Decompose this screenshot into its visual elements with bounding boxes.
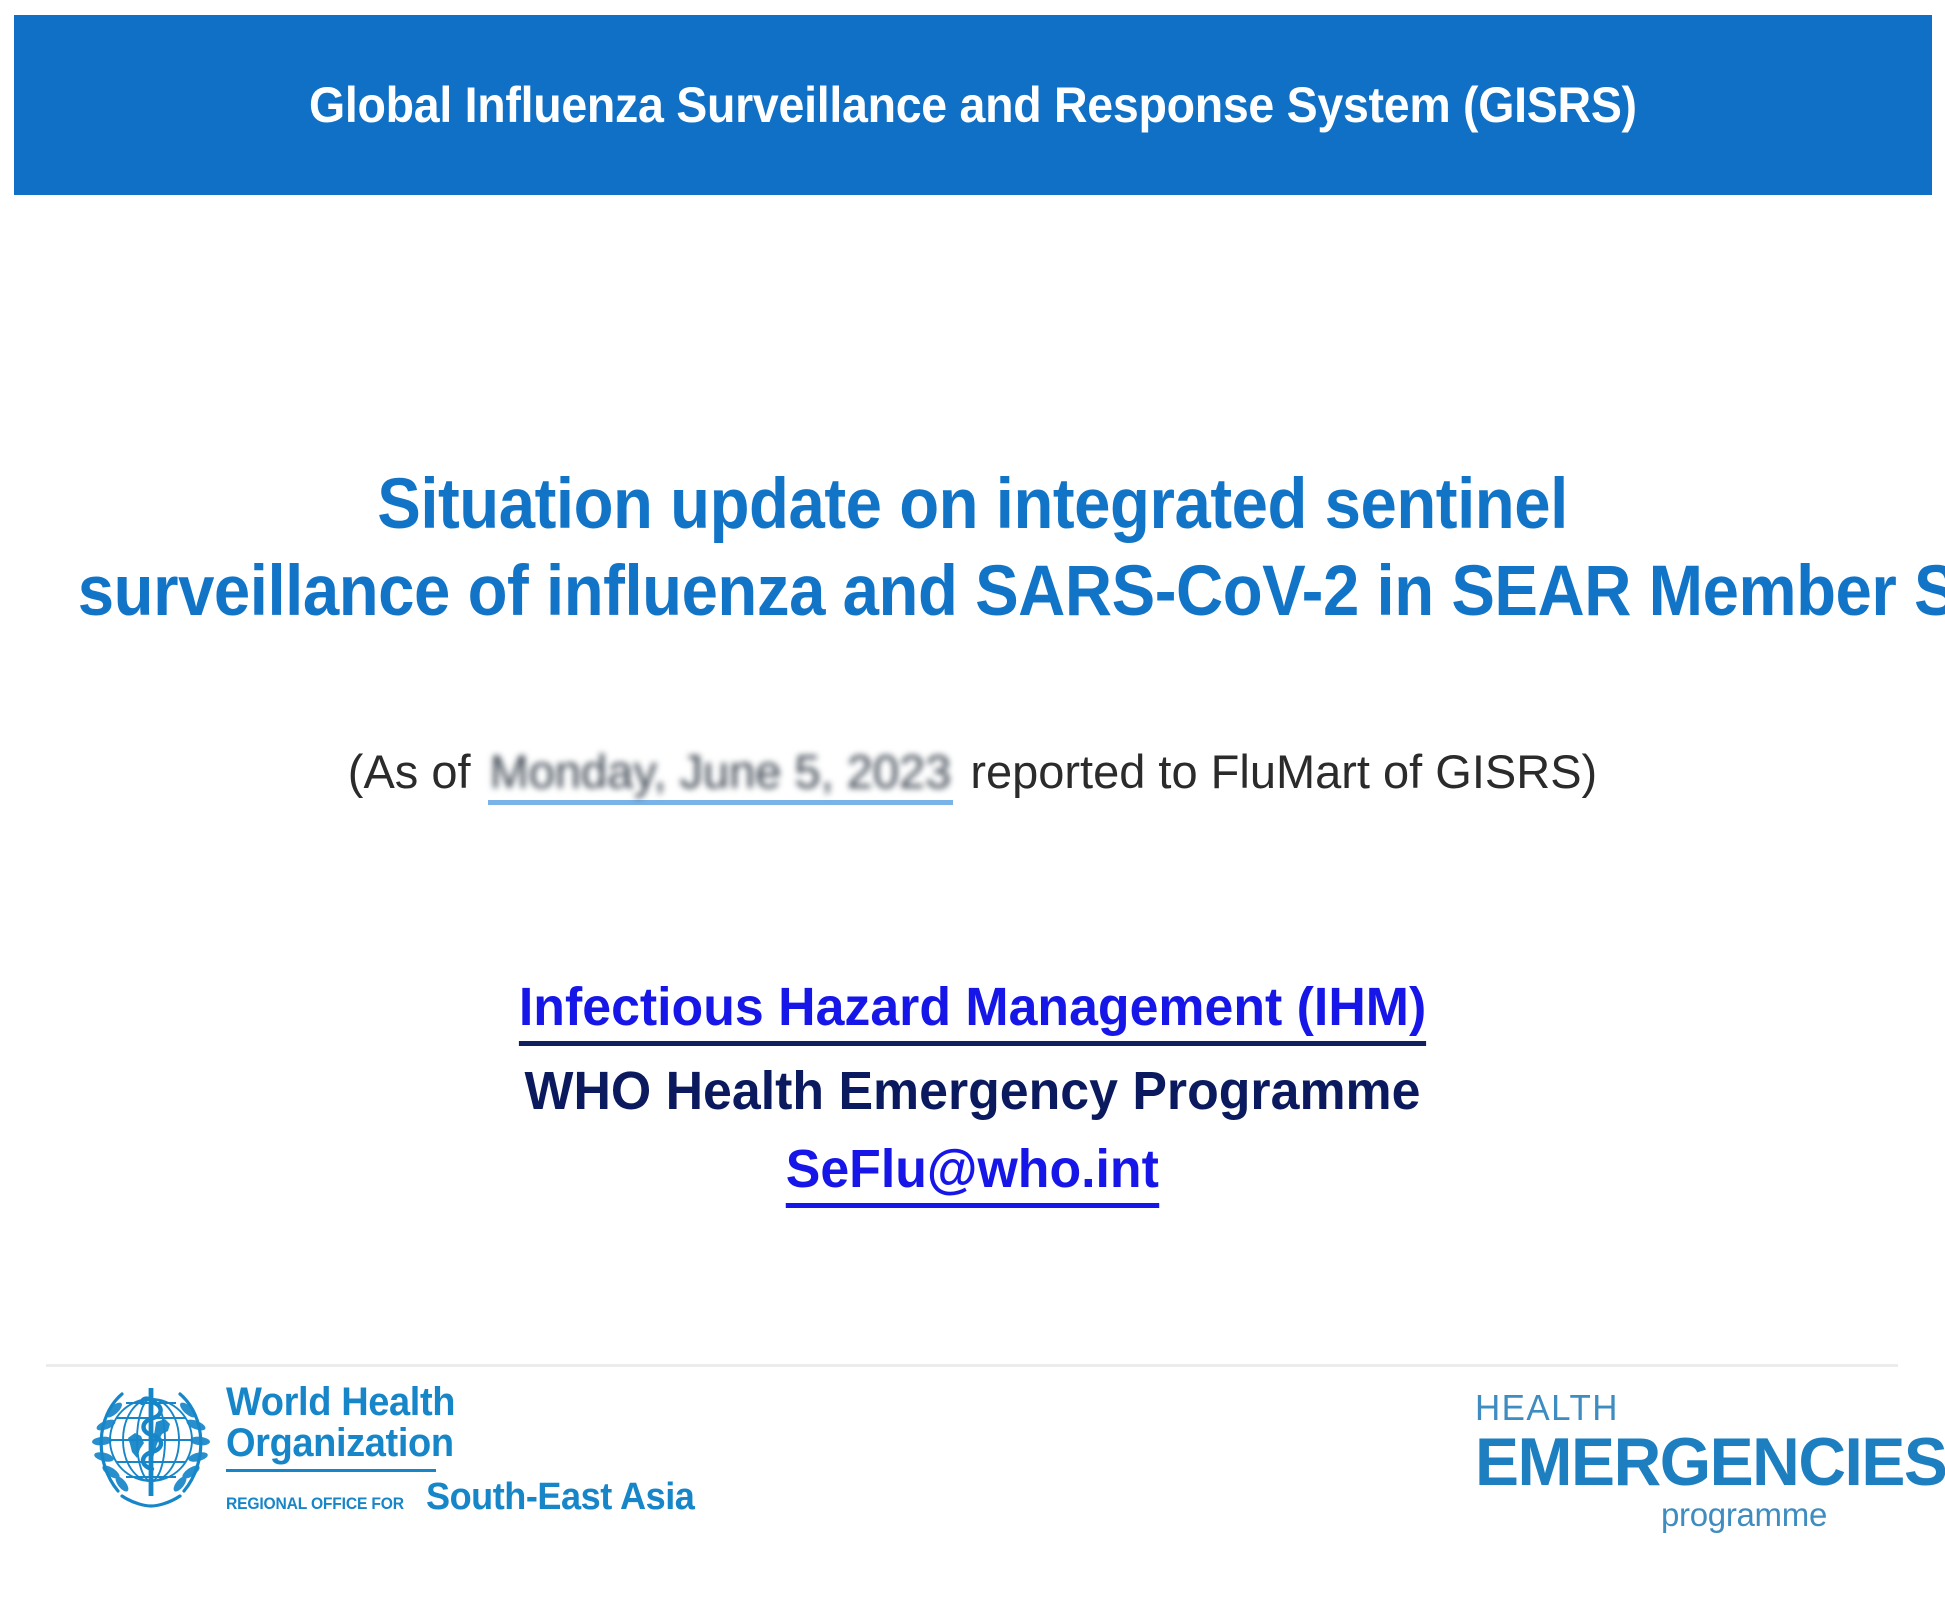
header-title: Global Influenza Surveillance and Respon… [309, 78, 1637, 133]
ihm-link[interactable]: Infectious Hazard Management (IHM) [519, 976, 1426, 1046]
who-regional-office-label: REGIONAL OFFICE FOR [226, 1494, 404, 1514]
page-title: Situation update on integrated sentinel … [0, 462, 1945, 635]
footer-divider [46, 1364, 1898, 1367]
who-wordmark-line-2: Organization [226, 1423, 685, 1464]
who-wordmark-line-1: World Health [226, 1382, 685, 1423]
who-region-line: REGIONAL OFFICE FOR South-East Asia [226, 1476, 709, 1519]
health-emergencies-line-3: programme [1475, 1498, 1827, 1531]
who-region-name: South-East Asia [426, 1476, 694, 1519]
email-link[interactable]: SeFlu@who.int [786, 1138, 1159, 1208]
health-emergencies-logo: HEALTH EMERGENCIES programme [1475, 1390, 1875, 1531]
who-logo: World Health Organization REGIONAL OFFIC… [88, 1376, 709, 1519]
page-title-line-1: Situation update on integrated sentinel [78, 462, 1867, 549]
contact-block: Infectious Hazard Management (IHM) WHO H… [0, 976, 1945, 1208]
subtitle-date-redaction: Monday, June 5, 2023 [488, 744, 954, 805]
subtitle-prefix: (As of [348, 744, 471, 799]
who-wordmark: World Health Organization REGIONAL OFFIC… [226, 1376, 709, 1519]
subtitle-date: Monday, June 5, 2023 [488, 745, 954, 798]
programme-label: WHO Health Emergency Programme [39, 1056, 1906, 1126]
page-title-line-2: surveillance of influenza and SARS-CoV-2… [78, 549, 1867, 636]
subtitle-as-of: (As of Monday, June 5, 2023 reported to … [0, 744, 1945, 805]
who-wordmark-rule [226, 1469, 436, 1472]
health-emergencies-line-1: HEALTH [1475, 1390, 1863, 1426]
health-emergencies-line-2: EMERGENCIES [1475, 1428, 1863, 1497]
subtitle-suffix: reported to FluMart of GISRS) [970, 744, 1597, 799]
who-emblem-icon [88, 1376, 214, 1512]
header-banner: Global Influenza Surveillance and Respon… [14, 15, 1932, 195]
